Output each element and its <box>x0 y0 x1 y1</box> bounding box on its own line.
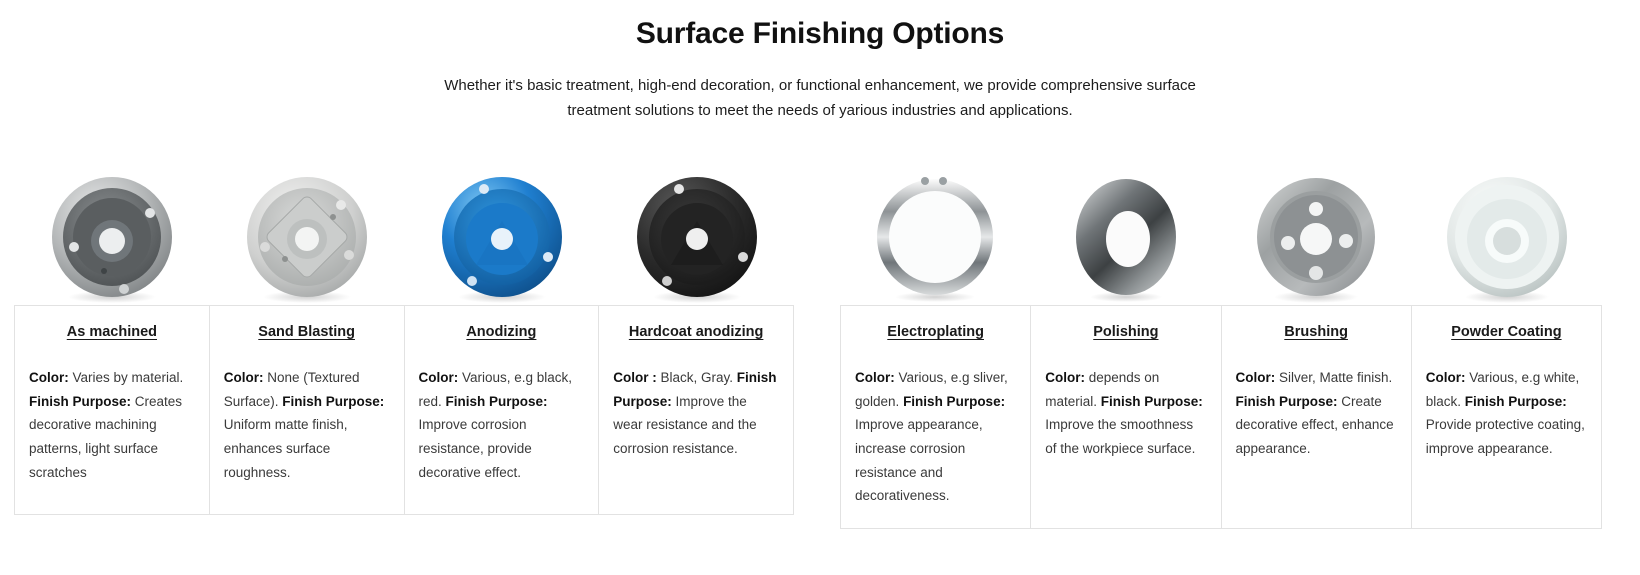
finish-card-label: Color : <box>613 370 657 385</box>
finish-card-hardcoat-anodizing[interactable]: Hardcoat anodizingColor : Black, Gray. F… <box>599 306 793 514</box>
finish-card-value: Uniform matte finish, enhances surface r… <box>224 417 348 479</box>
brushed-part-photo <box>1221 160 1412 305</box>
finish-card-body: Color: Various, e.g sliver, golden. Fini… <box>855 366 1016 508</box>
page-title: Surface Finishing Options <box>0 16 1640 52</box>
card-row-decorative: ElectroplatingColor: Various, e.g sliver… <box>840 305 1602 529</box>
finish-card-label: Color: <box>1236 370 1276 385</box>
finish-card-label: Finish Purpose: <box>1465 394 1567 409</box>
finish-card-body: Color: None (Textured Surface). Finish P… <box>224 366 390 484</box>
finish-card-title: Anodizing <box>419 324 585 340</box>
page-header: Surface Finishing Options Whether it's b… <box>0 0 1640 124</box>
image-strip-machining <box>14 160 794 305</box>
page-subtitle: Whether it's basic treatment, high-end d… <box>420 74 1220 124</box>
board-machining-finishes: As machinedColor: Varies by material. Fi… <box>14 160 794 515</box>
finish-card-powder-coating[interactable]: Powder CoatingColor: Various, e.g white,… <box>1412 306 1601 528</box>
finish-card-value: Provide protective coating, improve appe… <box>1426 417 1585 456</box>
as-machined-part-photo <box>14 160 209 305</box>
finish-card-value: Varies by material. <box>69 370 184 385</box>
finish-card-label: Color: <box>1045 370 1085 385</box>
finish-card-body: Color: Varies by material. Finish Purpos… <box>29 366 195 484</box>
finish-card-electroplating[interactable]: ElectroplatingColor: Various, e.g sliver… <box>841 306 1031 528</box>
image-strip-decorative <box>840 160 1602 305</box>
finish-card-brushing[interactable]: BrushingColor: Silver, Matte finish. Fin… <box>1222 306 1412 528</box>
finish-card-value: Improve corrosion resistance, provide de… <box>419 417 532 479</box>
electroplated-part-photo <box>840 160 1031 305</box>
powder-coated-part-photo <box>1412 160 1603 305</box>
finish-card-body: Color: Various, e.g white, black. Finish… <box>1426 366 1587 461</box>
finish-card-anodizing[interactable]: AnodizingColor: Various, e.g black, red.… <box>405 306 600 514</box>
finish-card-label: Color: <box>224 370 264 385</box>
card-row-machining: As machinedColor: Varies by material. Fi… <box>14 305 794 515</box>
board-decorative-finishes: ElectroplatingColor: Various, e.g sliver… <box>840 160 1602 529</box>
finish-card-label: Finish Purpose: <box>29 394 131 409</box>
finish-card-label: Color: <box>29 370 69 385</box>
finish-card-value: Improve the smoothness of the workpiece … <box>1045 417 1195 456</box>
finish-card-label: Finish <box>737 370 777 385</box>
finish-card-label: Color: <box>1426 370 1466 385</box>
finish-card-title: Brushing <box>1236 324 1397 340</box>
finish-card-body: Color : Black, Gray. Finish Purpose: Imp… <box>613 366 779 461</box>
finish-card-title: As machined <box>29 324 195 340</box>
finish-card-label: Purpose: <box>613 394 672 409</box>
finish-card-label: Finish Purpose: <box>1101 394 1203 409</box>
finish-card-title: Electroplating <box>855 324 1016 340</box>
finish-card-label: Finish Purpose: <box>282 394 384 409</box>
finish-card-polishing[interactable]: PolishingColor: depends on material. Fin… <box>1031 306 1221 528</box>
finish-card-body: Color: Silver, Matte finish. Finish Purp… <box>1236 366 1397 461</box>
finish-card-body: Color: Various, e.g black, red. Finish P… <box>419 366 585 484</box>
finish-card-label: Color: <box>855 370 895 385</box>
finishing-options-boards: As machinedColor: Varies by material. Fi… <box>0 160 1640 529</box>
finish-card-body: Color: depends on material. Finish Purpo… <box>1045 366 1206 461</box>
finish-card-label: Finish Purpose: <box>1236 394 1338 409</box>
finish-card-value: Black, Gray. <box>657 370 733 385</box>
finish-card-label: Finish Purpose: <box>903 394 1005 409</box>
polished-part-photo <box>1031 160 1222 305</box>
finish-card-sand-blasting[interactable]: Sand BlastingColor: None (Textured Surfa… <box>210 306 405 514</box>
sand-blasted-part-photo <box>209 160 404 305</box>
anodized-part-photo <box>404 160 599 305</box>
finish-card-title: Hardcoat anodizing <box>613 324 779 340</box>
hardcoat-anodized-part-photo <box>599 160 794 305</box>
finish-card-value: Silver, Matte finish. <box>1275 370 1392 385</box>
finish-card-value: Improve appearance, increase corrosion r… <box>855 417 983 503</box>
finish-card-title: Powder Coating <box>1426 324 1587 340</box>
finish-card-title: Sand Blasting <box>224 324 390 340</box>
finish-card-label: Finish Purpose: <box>446 394 548 409</box>
finish-card-as-machined[interactable]: As machinedColor: Varies by material. Fi… <box>15 306 210 514</box>
finish-card-title: Polishing <box>1045 324 1206 340</box>
finish-card-label: Color: <box>419 370 459 385</box>
